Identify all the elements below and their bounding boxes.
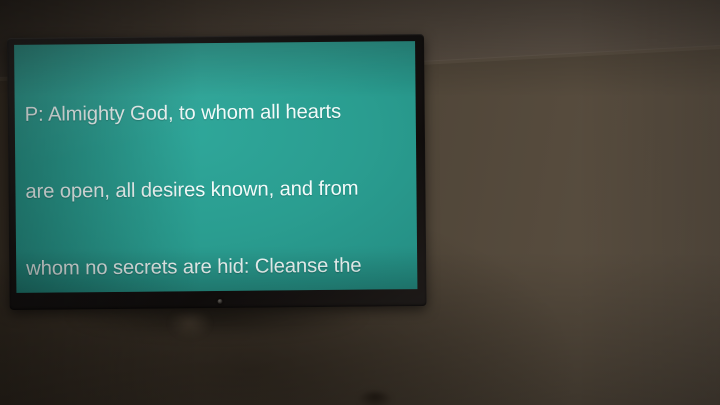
- power-indicator-icon: [218, 299, 223, 304]
- slide-line: are open, all desires known, and from: [25, 176, 410, 205]
- room-scene: P: Almighty God, to whom all hearts are …: [0, 0, 720, 405]
- slide-line: whom no secrets are hid: Cleanse the: [26, 254, 411, 283]
- liturgy-slide-text: P: Almighty God, to whom all hearts are …: [24, 47, 416, 293]
- slide-line: P: Almighty God, to whom all hearts: [25, 99, 410, 128]
- wall-mounted-tv[interactable]: P: Almighty God, to whom all hearts are …: [7, 34, 427, 310]
- tv-screen[interactable]: P: Almighty God, to whom all hearts are …: [14, 41, 417, 293]
